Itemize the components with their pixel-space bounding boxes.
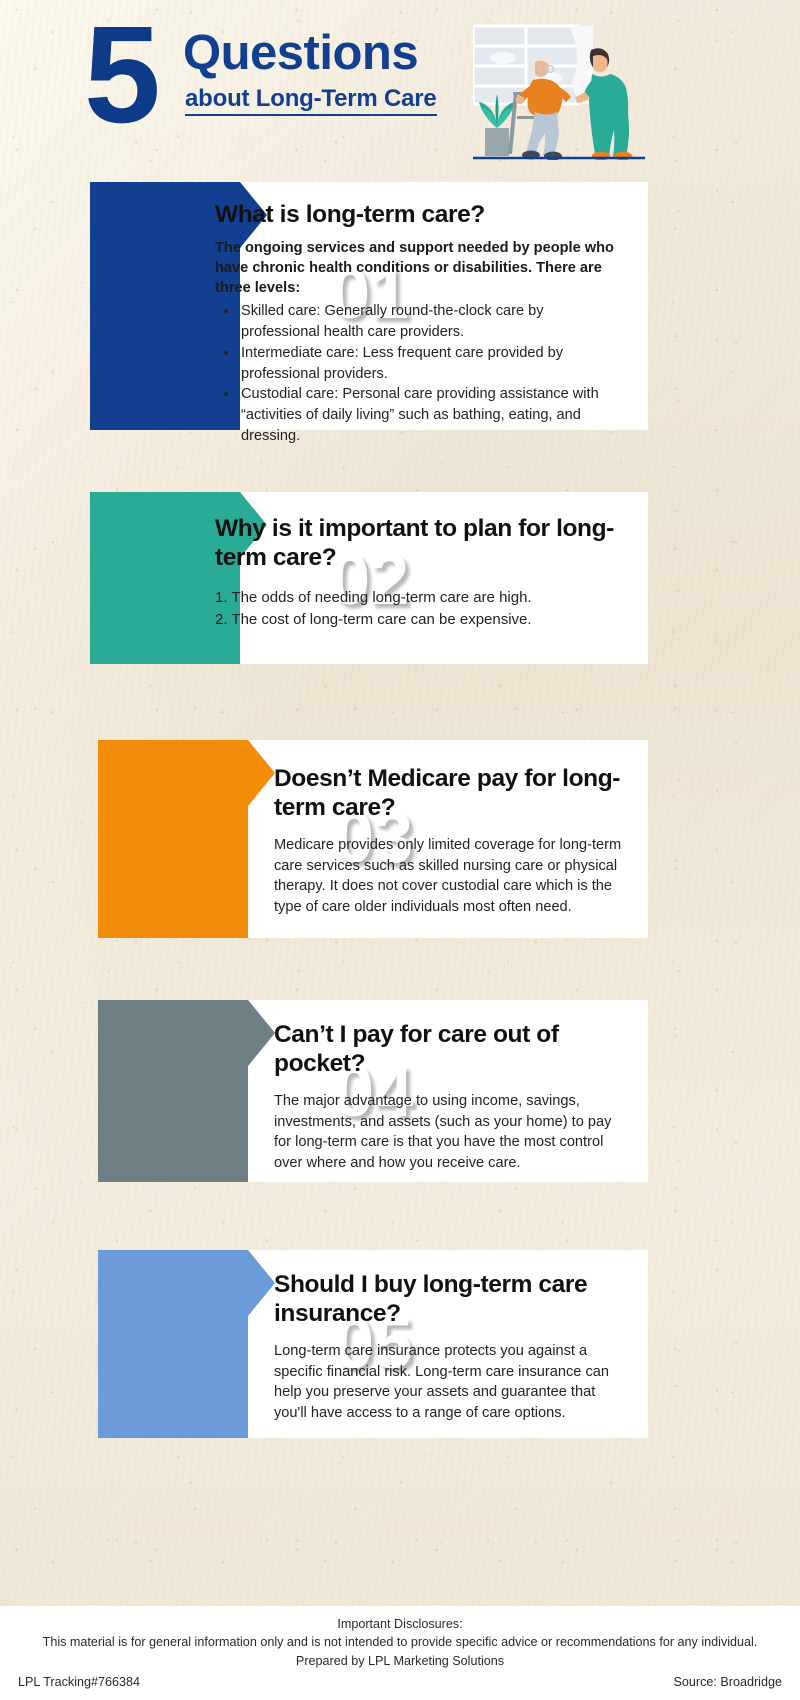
card-content: Doesn’t Medicare pay for long-term care?… [274,764,628,918]
footer-meta-row: LPL Tracking#766384 Source: Broadridge [18,1675,782,1689]
prepared-by-text: Prepared by LPL Marketing Solutions [0,1652,800,1670]
header: 5 Questions about Long-Term Care [0,0,800,176]
card-content: Can’t I pay for care out of pocket? The … [274,1020,628,1174]
disclosure-heading: Important Disclosures: [0,1615,800,1633]
list-item: Custodial care: Personal care providing … [239,384,626,446]
question-card-3[interactable]: 03 Doesn’t Medicare pay for long-term ca… [98,740,648,938]
card-body-text: Medicare provides only limited coverage … [274,835,628,918]
card-content: Why is it important to plan for long-ter… [215,514,626,630]
card-title: Why is it important to plan for long-ter… [215,514,626,573]
card-title: Should I buy long-term care insurance? [274,1270,628,1329]
list-item: Intermediate care: Less frequent care pr… [239,343,626,384]
page-subtitle: about Long-Term Care [185,86,437,116]
disclosure-text: This material is for general information… [0,1633,800,1651]
card-lead-text: The ongoing services and support needed … [215,239,626,299]
card-content: Should I buy long-term care insurance? L… [274,1270,628,1424]
card-title: What is long-term care? [215,200,626,229]
question-card-5[interactable]: 05 Should I buy long-term care insurance… [98,1250,648,1438]
list-item: 2. The cost of long-term care can be exp… [215,609,626,631]
card-body-text: The major advantage to using income, sav… [274,1091,628,1174]
card-bullet-list: Skilled care: Generally round-the-clock … [239,301,626,446]
source-label: Source: Broadridge [673,1675,782,1689]
card-body-text: Long-term care insurance protects you ag… [274,1341,628,1424]
question-card-2[interactable]: 02 Why is it important to plan for long-… [90,492,648,664]
page-title: Questions [183,29,418,78]
list-item: 1. The odds of needing long-term care ar… [215,587,626,609]
card-title: Can’t I pay for care out of pocket? [274,1020,628,1079]
question-card-1[interactable]: 01 What is long-term care? The ongoing s… [90,182,648,430]
list-item: Skilled care: Generally round-the-clock … [239,301,626,342]
card-title: Doesn’t Medicare pay for long-term care? [274,764,628,823]
tracking-number: LPL Tracking#766384 [18,1675,140,1689]
disclosure-block: Important Disclosures: This material is … [0,1606,800,1670]
tile-arrow-icon [248,1250,275,1316]
question-card-4[interactable]: 04 Can’t I pay for care out of pocket? T… [98,1000,648,1182]
footer: Important Disclosures: This material is … [0,1606,800,1700]
tile-arrow-icon [248,740,275,806]
card-ordered-list: 1. The odds of needing long-term care ar… [215,587,626,631]
headline-big-number: 5 [84,6,157,144]
card-content: What is long-term care? The ongoing serv… [215,200,626,446]
caregiver-illustration [473,22,645,160]
